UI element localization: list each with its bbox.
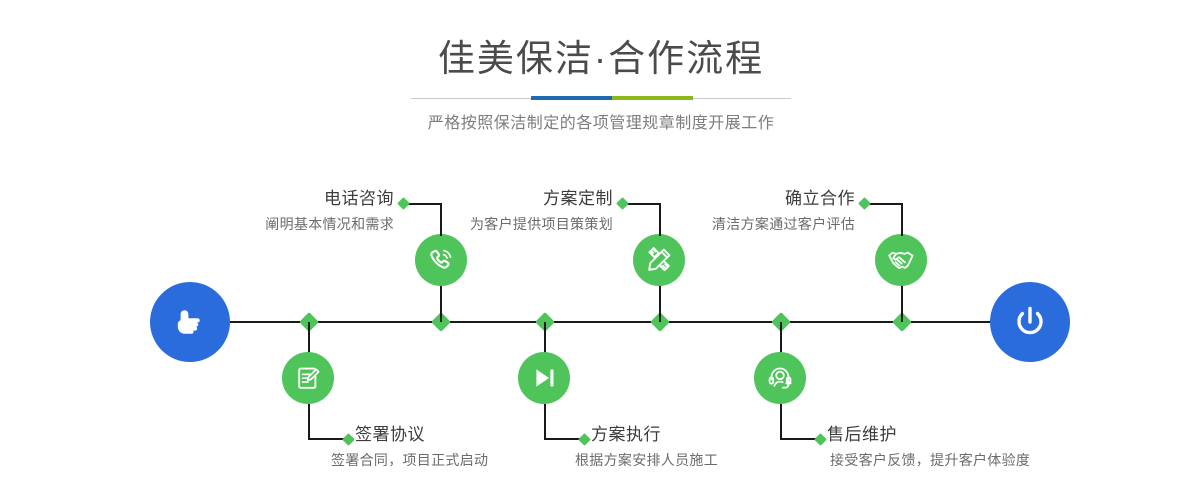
connector-stem-5 <box>901 285 903 322</box>
document-edit-icon <box>294 364 322 392</box>
step-title-5: 确立合作 <box>702 190 855 209</box>
connector-stem-2 <box>308 322 310 355</box>
step-icon-bubble-3 <box>633 234 685 286</box>
connector-stem-1 <box>440 285 442 322</box>
step-label-3: 方案定制 为客户提供项目策策划 <box>460 190 613 232</box>
step-icon-bubble-6 <box>754 352 806 404</box>
step-title-2: 签署协议 <box>355 426 488 445</box>
divider-segment-green <box>612 96 693 100</box>
step-label-4: 方案执行 根据方案安排人员施工 <box>591 426 718 468</box>
connector-stem-6 <box>780 322 782 355</box>
skip-forward-icon <box>530 364 558 392</box>
step-icon-bubble-5 <box>875 234 927 286</box>
phone-call-icon <box>426 245 456 275</box>
step-desc-1: 阐明基本情况和需求 <box>254 209 394 232</box>
step-desc-4: 根据方案安排人员施工 <box>575 445 718 468</box>
label-elbow-v-3 <box>659 203 661 236</box>
step-icon-bubble-4 <box>518 352 570 404</box>
label-node-1 <box>397 197 410 210</box>
label-node-5 <box>858 197 871 210</box>
step-label-1: 电话咨询 阐明基本情况和需求 <box>254 190 394 232</box>
step-label-6: 售后维护 接受客户反馈，提升客户体验度 <box>827 426 1030 468</box>
title-divider <box>411 96 791 100</box>
divider-segment-blue <box>531 96 612 100</box>
header: 佳美保洁·合作流程 严格按照保洁制定的各项管理规章制度开展工作 <box>0 0 1202 133</box>
step-desc-2: 签署合同，项目正式启动 <box>331 445 488 468</box>
connector-stem-4 <box>544 322 546 355</box>
label-elbow-v-6 <box>780 404 782 439</box>
handshake-icon <box>886 245 916 275</box>
label-elbow-h-4 <box>544 438 582 440</box>
flow-diagram-page: 佳美保洁·合作流程 严格按照保洁制定的各项管理规章制度开展工作 <box>0 0 1202 502</box>
step-title-3: 方案定制 <box>460 190 613 209</box>
timeline-end-badge <box>990 282 1070 362</box>
step-desc-6: 接受客户反馈，提升客户体验度 <box>830 445 1030 468</box>
label-elbow-h-2 <box>308 438 346 440</box>
label-elbow-h-6 <box>780 438 818 440</box>
label-elbow-v-2 <box>308 404 310 439</box>
pencil-ruler-icon <box>644 245 674 275</box>
label-node-3 <box>616 197 629 210</box>
step-desc-3: 为客户提供项目策策划 <box>460 209 613 232</box>
connector-stem-3 <box>659 285 661 322</box>
step-icon-bubble-2 <box>282 352 334 404</box>
page-subtitle: 严格按照保洁制定的各项管理规章制度开展工作 <box>0 100 1202 133</box>
power-icon <box>1007 299 1053 345</box>
step-icon-bubble-1 <box>415 234 467 286</box>
label-elbow-v-5 <box>901 203 903 236</box>
label-elbow-v-1 <box>440 203 442 236</box>
step-title-1: 电话咨询 <box>254 190 394 209</box>
step-label-5: 确立合作 清洁方案通过客户评估 <box>702 190 855 232</box>
headset-plus-icon <box>766 364 794 392</box>
step-title-6: 售后维护 <box>827 426 1030 445</box>
label-elbow-v-4 <box>544 404 546 439</box>
step-title-4: 方案执行 <box>591 426 718 445</box>
pointing-hand-icon <box>167 299 213 345</box>
step-label-2: 签署协议 签署合同，项目正式启动 <box>355 426 488 468</box>
timeline-start-badge <box>150 282 230 362</box>
step-desc-5: 清洁方案通过客户评估 <box>702 209 855 232</box>
page-title: 佳美保洁·合作流程 <box>0 0 1202 82</box>
label-node-6 <box>814 433 827 446</box>
